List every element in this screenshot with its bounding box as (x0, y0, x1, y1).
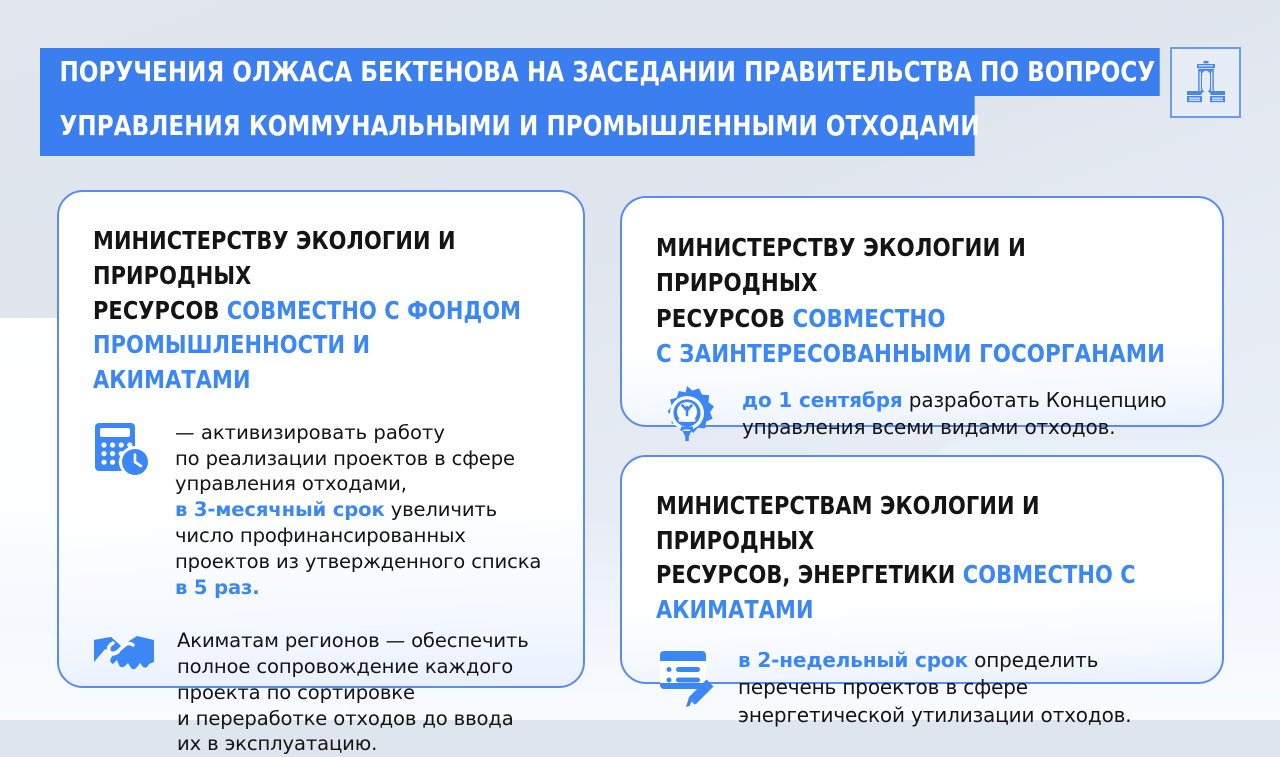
card-bottom-right-heading-plain-1: МИНИСТЕРСТВАМ ЭКОЛОГИИ И ПРИРОДНЫХ (656, 491, 1040, 555)
card-left-heading-highlight-2: ПРОМЫШЛЕННОСТИ И АКИМАТАМИ (93, 330, 370, 394)
card-ministry-ecology-state-bodies: МИНИСТЕРСТВУ ЭКОЛОГИИ И ПРИРОДНЫХ РЕСУРС… (620, 196, 1224, 427)
list-item: Акиматам регионов — обеспечить полное со… (93, 628, 553, 757)
gear-lightbulb-icon (656, 385, 718, 447)
item-line: увеличить (385, 498, 497, 521)
item-line: — активизировать работу (175, 421, 445, 444)
list-item: до 1 сентября разработать Концепцию упра… (656, 387, 1192, 447)
item-line: управления отходами, (175, 472, 407, 495)
item-line: управления всеми видами отходов. (742, 415, 1115, 439)
item-line: определить (968, 648, 1098, 672)
card-ministries-ecology-energy: МИНИСТЕРСТВАМ ЭКОЛОГИИ И ПРИРОДНЫХ РЕСУР… (620, 455, 1224, 684)
page-title-line-1: ПОРУЧЕНИЯ ОЛЖАСА БЕКТЕНОВА НА ЗАСЕДАНИИ … (40, 48, 1160, 96)
card-bottom-right-heading: МИНИСТЕРСТВАМ ЭКОЛОГИИ И ПРИРОДНЫХ РЕСУР… (656, 489, 1165, 627)
item-line: их в эксплуатацию. (177, 732, 377, 755)
list-item-text: Акиматам регионов — обеспечить полное со… (177, 628, 529, 757)
page-title-line-2-text: УПРАВЛЕНИЯ КОММУНАЛЬНЫМИ И ПРОМЫШЛЕННЫМИ… (60, 113, 980, 141)
page-title-line-1-text: ПОРУЧЕНИЯ ОЛЖАСА БЕКТЕНОВА НА ЗАСЕДАНИИ … (60, 59, 1156, 87)
item-line: проекта по сортировке (177, 681, 415, 704)
item-line: проектов из утвержденного списка (175, 550, 541, 573)
card-left-heading-plain-1: МИНИСТЕРСТВУ ЭКОЛОГИИ И ПРИРОДНЫХ (93, 226, 456, 290)
checklist-pencil-icon (656, 649, 716, 707)
card-left-heading: МИНИСТЕРСТВУ ЭКОЛОГИИ И ПРИРОДНЫХ РЕСУРС… (93, 224, 530, 398)
card-left-heading-plain-2: РЕСУРСОВ (93, 296, 227, 325)
header: ПОРУЧЕНИЯ ОЛЖАСА БЕКТЕНОВА НА ЗАСЕДАНИИ … (0, 0, 1280, 170)
item-line: перечень проектов в сфере (738, 675, 1028, 699)
item-highlight: в 3-месячный срок (175, 498, 385, 521)
item-highlight: в 2-недельный срок (738, 648, 968, 672)
government-logo (1170, 47, 1241, 118)
item-line: полное сопровождение каждого (177, 655, 513, 678)
page-title-line-2: УПРАВЛЕНИЯ КОММУНАЛЬНЫМИ И ПРОМЫШЛЕННЫМИ… (40, 96, 975, 156)
card-top-right-heading-plain-1: МИНИСТЕРСТВУ ЭКОЛОГИИ И ПРИРОДНЫХ (656, 233, 1026, 297)
item-line: разработать Концепцию (903, 388, 1167, 412)
handshake-icon (93, 632, 155, 684)
list-item: — активизировать работу по реализации пр… (93, 420, 553, 600)
card-top-right-heading-highlight-2: С ЗАИНТЕРЕСОВАННЫМИ ГОСОРГАНАМИ (656, 339, 1165, 368)
list-item-text: — активизировать работу по реализации пр… (175, 420, 541, 600)
card-bottom-right-heading-plain-2: РЕСУРСОВ, ЭНЕРГЕТИКИ (656, 560, 963, 589)
item-line: число профинансированных (175, 524, 466, 547)
item-line: и переработке отходов до ввода (177, 707, 514, 730)
list-item-text: до 1 сентября разработать Концепцию упра… (742, 387, 1166, 441)
card-top-right-heading: МИНИСТЕРСТВУ ЭКОЛОГИИ И ПРИРОДНЫХ РЕСУРС… (656, 230, 1165, 371)
item-line: по реализации проектов в сфере (175, 447, 515, 470)
card-top-right-heading-plain-2: РЕСУРСОВ (656, 304, 792, 333)
card-left-heading-highlight-1: СОВМЕСТНО С ФОНДОМ (227, 296, 521, 325)
item-highlight: до 1 сентября (742, 388, 903, 412)
card-top-right-heading-highlight-1: СОВМЕСТНО (792, 304, 945, 333)
list-item: в 2-недельный срок определить перечень п… (656, 647, 1192, 729)
item-line: Акиматам регионов — обеспечить (177, 629, 529, 652)
card-ministry-ecology-fund: МИНИСТЕРСТВУ ЭКОЛОГИИ И ПРИРОДНЫХ РЕСУРС… (57, 190, 585, 688)
item-highlight: в 5 раз. (175, 576, 260, 599)
list-item-text: в 2-недельный срок определить перечень п… (738, 647, 1132, 729)
item-line: энергетической утилизации отходов. (738, 703, 1132, 727)
calculator-clock-icon (93, 420, 153, 480)
government-building-icon (1181, 58, 1231, 108)
